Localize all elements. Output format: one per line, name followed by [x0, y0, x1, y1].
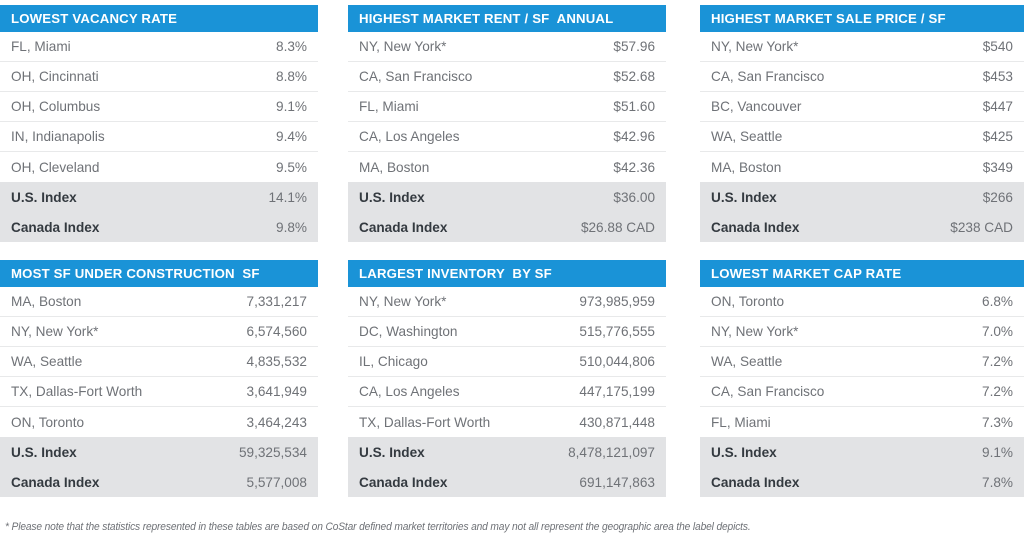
row-value: $453 — [913, 69, 1013, 84]
row-label: NY, New York* — [11, 324, 195, 339]
table-row: IN, Indianapolis 9.4% — [0, 122, 318, 152]
row-value: 9.1% — [941, 445, 1013, 460]
grid-row-gap — [700, 242, 1024, 260]
row-value: $238 CAD — [913, 220, 1013, 235]
table-row: ON, Toronto 3,464,243 — [0, 407, 318, 437]
index-row-us: U.S. Index 8,478,121,097 — [348, 437, 666, 467]
row-label: WA, Seattle — [11, 354, 195, 369]
row-label: MA, Boston — [359, 160, 545, 175]
row-value: 9.1% — [235, 99, 307, 114]
row-value: $540 — [913, 39, 1013, 54]
row-label: U.S. Index — [711, 190, 913, 205]
grid-gap — [318, 5, 348, 242]
table-row: ON, Toronto 6.8% — [700, 287, 1024, 317]
table-row: FL, Miami 7.3% — [700, 407, 1024, 437]
table-row: IL, Chicago 510,044,806 — [348, 347, 666, 377]
row-value: 6.8% — [941, 294, 1013, 309]
index-row-us: U.S. Index $266 — [700, 182, 1024, 212]
index-row-canada: Canada Index 5,577,008 — [0, 467, 318, 497]
grid-gap — [318, 260, 348, 497]
row-value: 7.8% — [941, 475, 1013, 490]
row-value: $447 — [913, 99, 1013, 114]
row-value: 4,835,532 — [195, 354, 307, 369]
index-summary-band: U.S. Index $36.00 Canada Index $26.88 CA… — [348, 182, 666, 242]
row-value: $52.68 — [545, 69, 655, 84]
row-label: NY, New York* — [711, 324, 941, 339]
grid-row-gap — [318, 242, 348, 260]
table-row: MA, Boston 7,331,217 — [0, 287, 318, 317]
row-value: 9.4% — [235, 129, 307, 144]
row-label: NY, New York* — [359, 294, 527, 309]
index-row-us: U.S. Index $36.00 — [348, 182, 666, 212]
row-label: CA, Los Angeles — [359, 129, 545, 144]
row-value: $42.96 — [545, 129, 655, 144]
table-row: MA, Boston $349 — [700, 152, 1024, 182]
row-value: $36.00 — [545, 190, 655, 205]
row-label: NY, New York* — [711, 39, 913, 54]
table-body-most-sf-under-construction: MA, Boston 7,331,217 NY, New York* 6,574… — [0, 287, 318, 497]
index-row-us: U.S. Index 14.1% — [0, 182, 318, 212]
row-label: MA, Boston — [711, 160, 913, 175]
index-summary-band: U.S. Index 59,325,534 Canada Index 5,577… — [0, 437, 318, 497]
table-row: WA, Seattle 4,835,532 — [0, 347, 318, 377]
table-header-highest-market-sale-price: HIGHEST MARKET SALE PRICE / SF — [700, 5, 1024, 32]
table-header-largest-inventory-by-sf: LARGEST INVENTORY BY SF — [348, 260, 666, 287]
row-label: BC, Vancouver — [711, 99, 913, 114]
row-label: Canada Index — [711, 475, 941, 490]
row-label: CA, Los Angeles — [359, 384, 527, 399]
table-body-lowest-vacancy-rate: FL, Miami 8.3% OH, Cincinnati 8.8% OH, C… — [0, 32, 318, 242]
row-label: IL, Chicago — [359, 354, 527, 369]
table-row: MA, Boston $42.36 — [348, 152, 666, 182]
row-value: $425 — [913, 129, 1013, 144]
table-row: WA, Seattle $425 — [700, 122, 1024, 152]
table-header-most-sf-under-construction: MOST SF UNDER CONSTRUCTION SF — [0, 260, 318, 287]
table-largest-inventory-by-sf: LARGEST INVENTORY BY SF NY, New York* 97… — [348, 260, 666, 497]
row-label: ON, Toronto — [11, 415, 195, 430]
table-highest-market-rent: HIGHEST MARKET RENT / SF ANNUAL NY, New … — [348, 5, 666, 242]
row-value: 7.3% — [941, 415, 1013, 430]
table-header-highest-market-rent: HIGHEST MARKET RENT / SF ANNUAL — [348, 5, 666, 32]
row-value: 8.8% — [235, 69, 307, 84]
row-label: Canada Index — [359, 220, 545, 235]
table-row: NY, New York* $540 — [700, 32, 1024, 62]
footnote-disclaimer: * Please note that the statistics repres… — [5, 521, 984, 533]
table-row: FL, Miami $51.60 — [348, 92, 666, 122]
row-value: 3,641,949 — [195, 384, 307, 399]
table-row: TX, Dallas-Fort Worth 430,871,448 — [348, 407, 666, 437]
row-label: CA, San Francisco — [711, 384, 941, 399]
table-row: DC, Washington 515,776,555 — [348, 317, 666, 347]
grid-gap — [666, 260, 700, 497]
table-row: OH, Cincinnati 8.8% — [0, 62, 318, 92]
table-highest-market-sale-price: HIGHEST MARKET SALE PRICE / SF NY, New Y… — [700, 5, 1024, 242]
table-row: NY, New York* 6,574,560 — [0, 317, 318, 347]
row-value: 59,325,534 — [195, 445, 307, 460]
table-row: BC, Vancouver $447 — [700, 92, 1024, 122]
row-label: U.S. Index — [359, 190, 545, 205]
table-row: NY, New York* 7.0% — [700, 317, 1024, 347]
row-value: 691,147,863 — [527, 475, 655, 490]
row-label: MA, Boston — [11, 294, 195, 309]
table-row: CA, San Francisco $52.68 — [348, 62, 666, 92]
table-row: WA, Seattle 7.2% — [700, 347, 1024, 377]
grid-row-gap — [666, 242, 700, 260]
row-label: FL, Miami — [359, 99, 545, 114]
table-body-lowest-market-cap-rate: ON, Toronto 6.8% NY, New York* 7.0% WA, … — [700, 287, 1024, 497]
row-label: U.S. Index — [711, 445, 941, 460]
table-most-sf-under-construction: MOST SF UNDER CONSTRUCTION SF MA, Boston… — [0, 260, 318, 497]
row-value: 8.3% — [235, 39, 307, 54]
table-row: NY, New York* 973,985,959 — [348, 287, 666, 317]
row-label: FL, Miami — [11, 39, 235, 54]
row-label: WA, Seattle — [711, 129, 913, 144]
index-row-us: U.S. Index 59,325,534 — [0, 437, 318, 467]
row-label: IN, Indianapolis — [11, 129, 235, 144]
row-value: 9.5% — [235, 160, 307, 175]
row-value: 447,175,199 — [527, 384, 655, 399]
table-lowest-vacancy-rate: LOWEST VACANCY RATE FL, Miami 8.3% OH, C… — [0, 5, 318, 242]
table-row: TX, Dallas-Fort Worth 3,641,949 — [0, 377, 318, 407]
row-value: $26.88 CAD — [545, 220, 655, 235]
row-value: 5,577,008 — [195, 475, 307, 490]
table-header-lowest-market-cap-rate: LOWEST MARKET CAP RATE — [700, 260, 1024, 287]
grid-row-gap — [348, 242, 666, 260]
row-label: U.S. Index — [11, 445, 195, 460]
row-value: 7.0% — [941, 324, 1013, 339]
index-row-canada: Canada Index 7.8% — [700, 467, 1024, 497]
row-label: Canada Index — [359, 475, 527, 490]
index-summary-band: U.S. Index 8,478,121,097 Canada Index 69… — [348, 437, 666, 497]
index-row-canada: Canada Index $26.88 CAD — [348, 212, 666, 242]
row-value: 430,871,448 — [527, 415, 655, 430]
row-label: U.S. Index — [11, 190, 235, 205]
row-value: 510,044,806 — [527, 354, 655, 369]
index-row-us: U.S. Index 9.1% — [700, 437, 1024, 467]
index-summary-band: U.S. Index 14.1% Canada Index 9.8% — [0, 182, 318, 242]
row-label: Canada Index — [11, 220, 235, 235]
grid-gap — [666, 5, 700, 242]
row-label: Canada Index — [11, 475, 195, 490]
row-label: U.S. Index — [359, 445, 527, 460]
index-summary-band: U.S. Index 9.1% Canada Index 7.8% — [700, 437, 1024, 497]
index-summary-band: U.S. Index $266 Canada Index $238 CAD — [700, 182, 1024, 242]
row-label: OH, Cincinnati — [11, 69, 235, 84]
row-label: CA, San Francisco — [359, 69, 545, 84]
row-value: 9.8% — [235, 220, 307, 235]
row-value: $42.36 — [545, 160, 655, 175]
table-row: CA, Los Angeles 447,175,199 — [348, 377, 666, 407]
table-row: OH, Cleveland 9.5% — [0, 152, 318, 182]
row-value: 14.1% — [235, 190, 307, 205]
row-value: 7,331,217 — [195, 294, 307, 309]
row-value: 7.2% — [941, 354, 1013, 369]
row-value: 973,985,959 — [527, 294, 655, 309]
table-body-largest-inventory-by-sf: NY, New York* 973,985,959 DC, Washington… — [348, 287, 666, 497]
row-label: CA, San Francisco — [711, 69, 913, 84]
table-body-highest-market-sale-price: NY, New York* $540 CA, San Francisco $45… — [700, 32, 1024, 242]
table-row: NY, New York* $57.96 — [348, 32, 666, 62]
table-row: FL, Miami 8.3% — [0, 32, 318, 62]
row-value: 7.2% — [941, 384, 1013, 399]
row-label: OH, Cleveland — [11, 160, 235, 175]
row-value: $51.60 — [545, 99, 655, 114]
row-value: 6,574,560 — [195, 324, 307, 339]
row-label: TX, Dallas-Fort Worth — [359, 415, 527, 430]
row-label: NY, New York* — [359, 39, 545, 54]
table-row: CA, San Francisco 7.2% — [700, 377, 1024, 407]
row-value: 515,776,555 — [527, 324, 655, 339]
table-lowest-market-cap-rate: LOWEST MARKET CAP RATE ON, Toronto 6.8% … — [700, 260, 1024, 497]
row-label: TX, Dallas-Fort Worth — [11, 384, 195, 399]
table-row: CA, San Francisco $453 — [700, 62, 1024, 92]
row-value: 3,464,243 — [195, 415, 307, 430]
row-value: $266 — [913, 190, 1013, 205]
row-label: WA, Seattle — [711, 354, 941, 369]
table-row: OH, Columbus 9.1% — [0, 92, 318, 122]
grid-row-gap — [0, 242, 318, 260]
row-value: $349 — [913, 160, 1013, 175]
row-label: OH, Columbus — [11, 99, 235, 114]
row-label: DC, Washington — [359, 324, 527, 339]
row-label: ON, Toronto — [711, 294, 941, 309]
index-row-canada: Canada Index 9.8% — [0, 212, 318, 242]
index-row-canada: Canada Index 691,147,863 — [348, 467, 666, 497]
table-header-lowest-vacancy-rate: LOWEST VACANCY RATE — [0, 5, 318, 32]
row-value: 8,478,121,097 — [527, 445, 655, 460]
table-row: CA, Los Angeles $42.96 — [348, 122, 666, 152]
table-body-highest-market-rent: NY, New York* $57.96 CA, San Francisco $… — [348, 32, 666, 242]
row-value: $57.96 — [545, 39, 655, 54]
stats-tables-page: LOWEST VACANCY RATE FL, Miami 8.3% OH, C… — [0, 0, 1024, 549]
row-label: FL, Miami — [711, 415, 941, 430]
tables-grid: LOWEST VACANCY RATE FL, Miami 8.3% OH, C… — [0, 0, 1024, 497]
index-row-canada: Canada Index $238 CAD — [700, 212, 1024, 242]
row-label: Canada Index — [711, 220, 913, 235]
